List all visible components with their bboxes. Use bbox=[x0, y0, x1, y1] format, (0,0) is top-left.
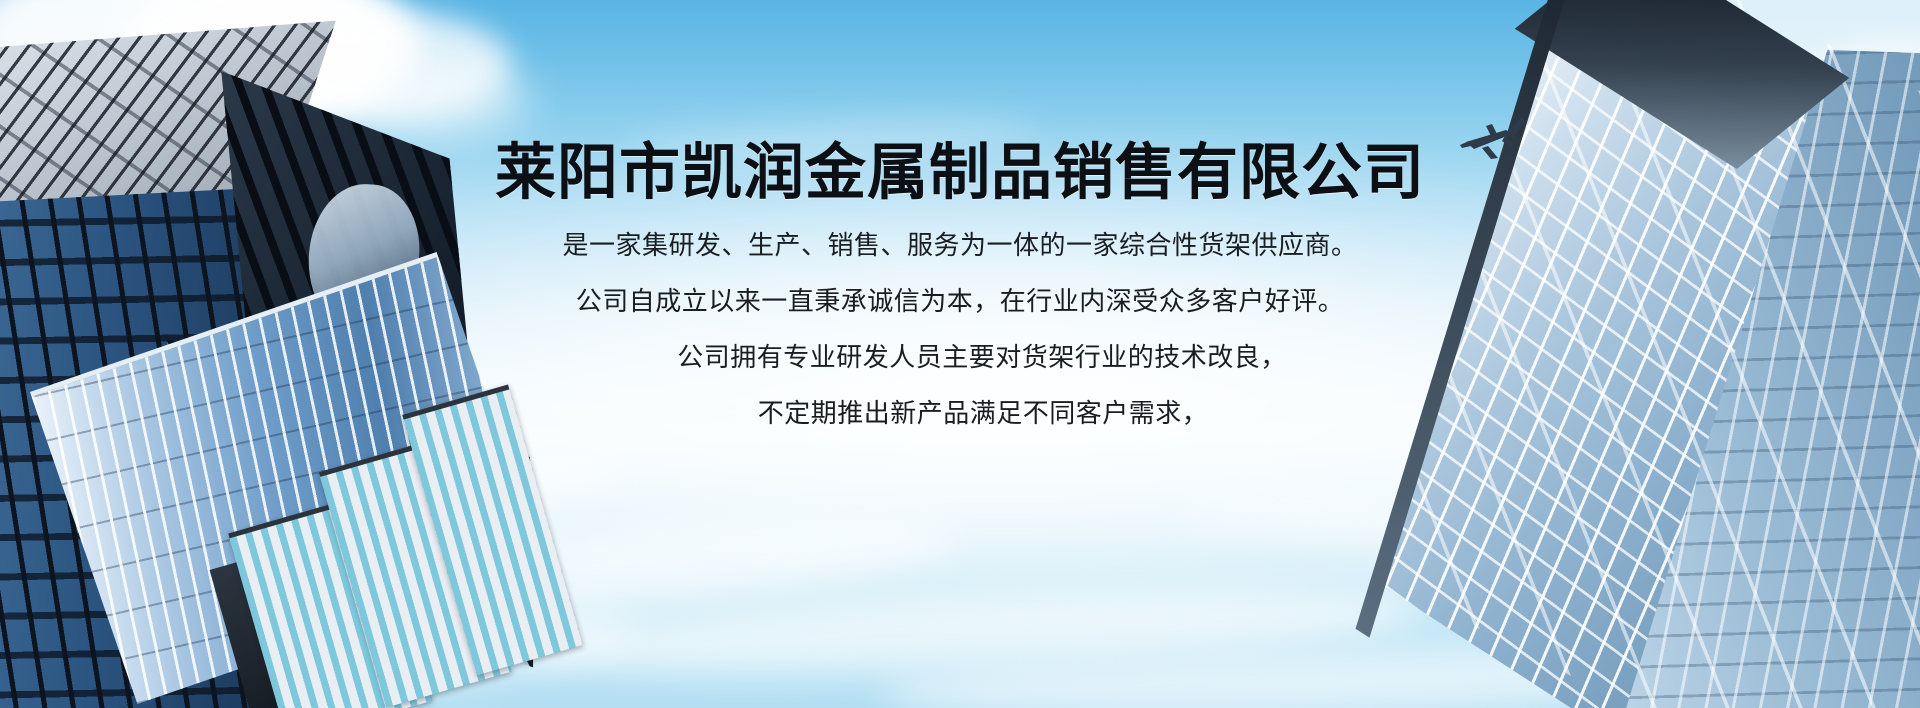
hero-subtext-line-2: 公司自成立以来一直秉承诚信为本，在行业内深受众多客户好评。 bbox=[0, 288, 1920, 314]
hero-copy-block: 莱阳市凯润金属制品销售有限公司 是一家集研发、生产、销售、服务为一体的一家综合性… bbox=[0, 140, 1920, 456]
hero-subtext-line-4: 不定期推出新产品满足不同客户需求， bbox=[0, 400, 1920, 426]
hero-subtext: 是一家集研发、生产、销售、服务为一体的一家综合性货架供应商。 公司自成立以来一直… bbox=[0, 232, 1920, 426]
hero-subtext-line-3: 公司拥有专业研发人员主要对货架行业的技术改良， bbox=[0, 344, 1920, 370]
page-title: 莱阳市凯润金属制品销售有限公司 bbox=[0, 140, 1920, 206]
company-hero-banner: 莱阳市凯润金属制品销售有限公司 是一家集研发、生产、销售、服务为一体的一家综合性… bbox=[0, 0, 1920, 708]
hero-subtext-line-1: 是一家集研发、生产、销售、服务为一体的一家综合性货架供应商。 bbox=[0, 232, 1920, 258]
